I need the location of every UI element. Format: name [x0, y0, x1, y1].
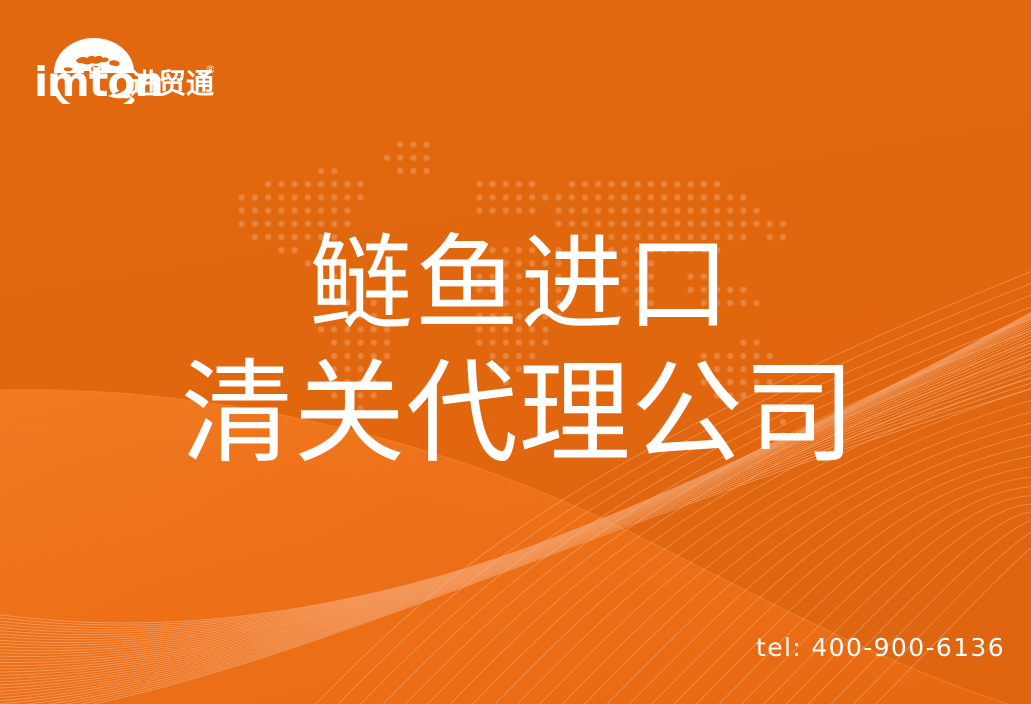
logo-chinese-name: 进贸通: [130, 67, 214, 100]
headline-line-2: 清关代理公司: [0, 358, 1031, 470]
contact-phone[interactable]: tel: 400-900-6136: [756, 633, 1005, 662]
brand-logo[interactable]: imton 进贸通 ®: [34, 26, 214, 104]
poster-canvas: imton 进贸通 ® 鲢鱼进口 清关代理公司 tel: 400-900-613…: [0, 0, 1031, 704]
page-title: 鲢鱼进口 清关代理公司: [0, 232, 1031, 470]
registered-trademark-icon: ®: [205, 63, 214, 76]
headline-line-1: 鲢鱼进口: [0, 232, 1031, 336]
